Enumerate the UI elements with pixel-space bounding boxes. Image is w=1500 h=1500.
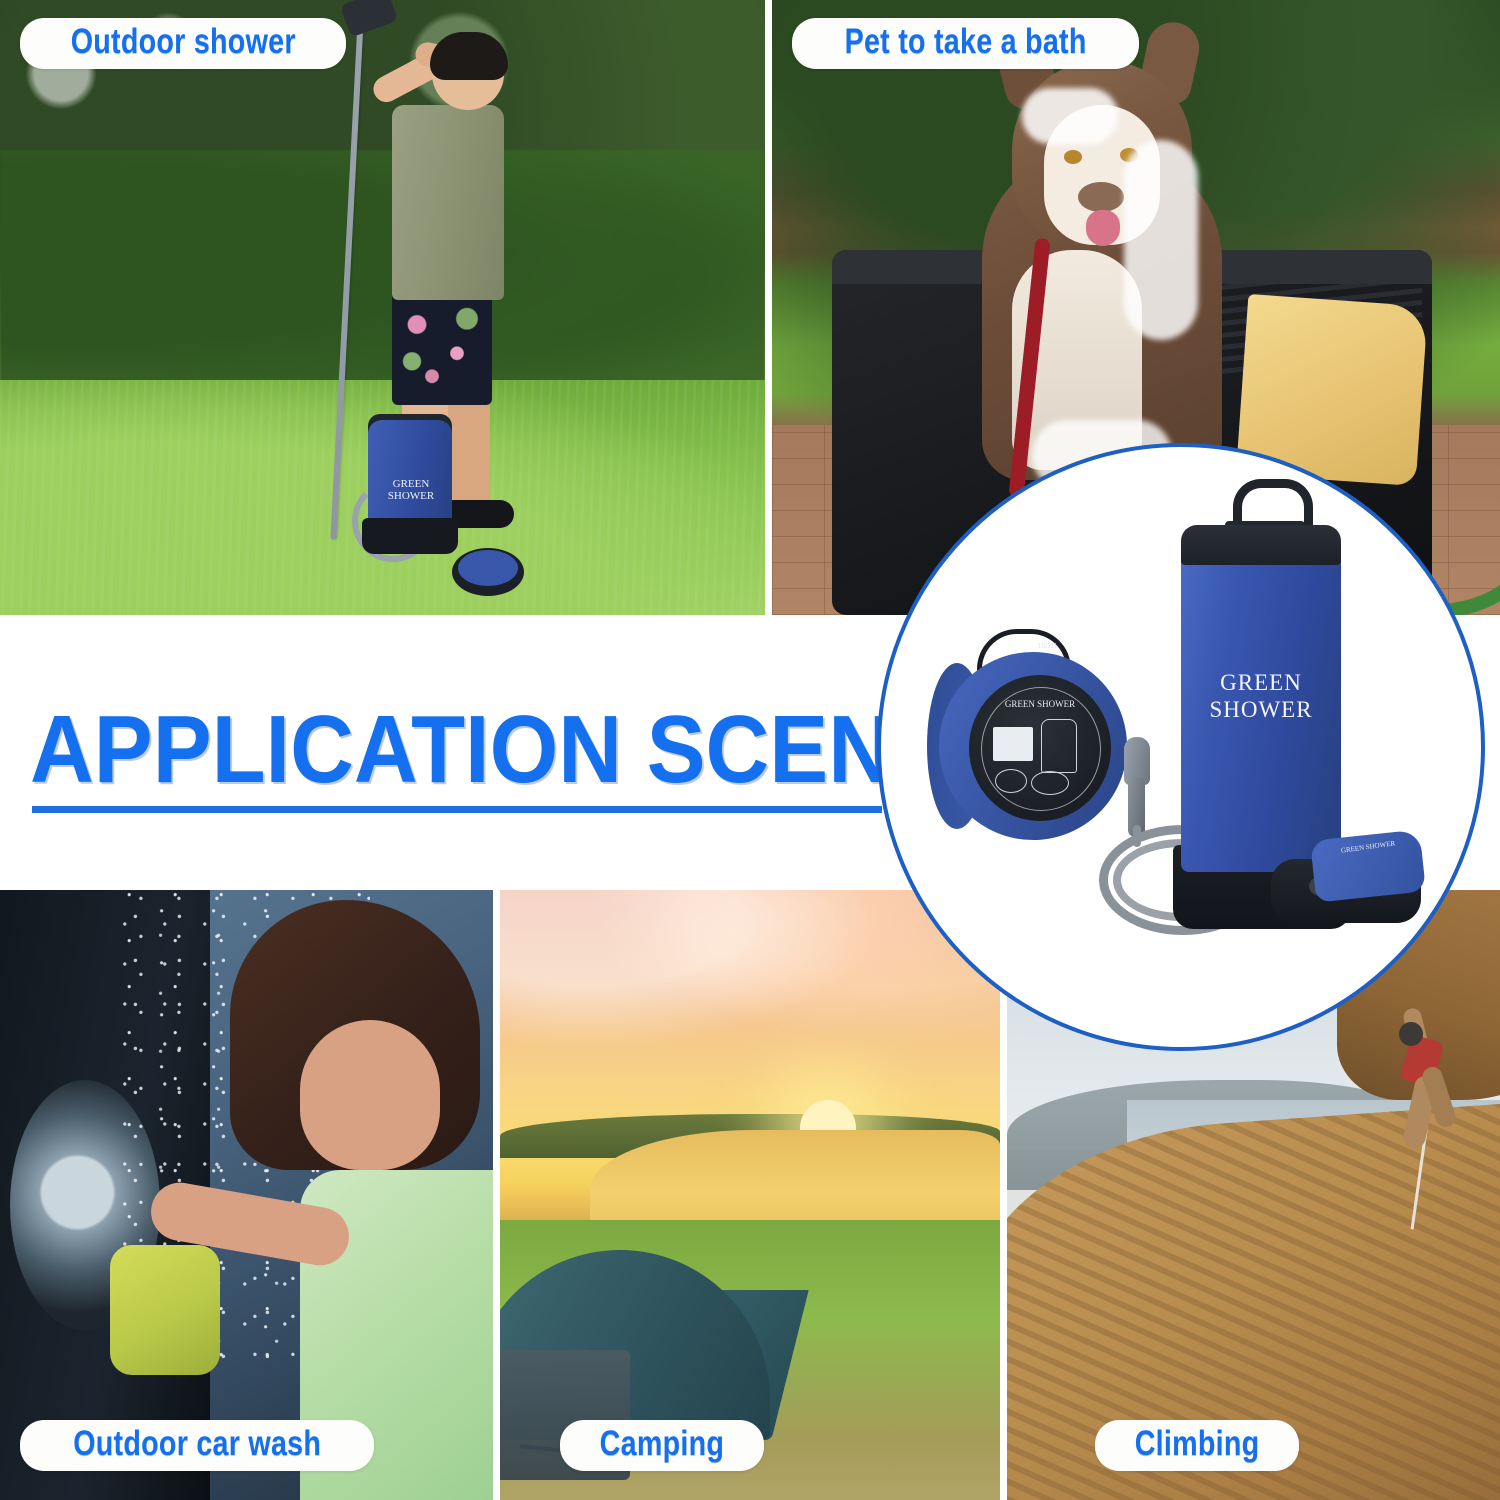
foot-pump-bladder [1310,829,1426,902]
case-artwork-hose-a [995,769,1027,793]
product-collage: GREEN SHOWER Outdoor shower Pet to take … [0,0,1500,1500]
dog-eye-left [1064,150,1082,164]
bag-brand-line-1: GREEN [1187,669,1335,696]
floral-shorts [392,290,492,405]
shower-bag-brand: GREEN SHOWER [372,478,450,502]
girl-face [300,1020,440,1170]
label-climbing-text: Climbing [1135,1426,1260,1461]
soap-suds-side [1124,140,1198,340]
bag-brand-line-2: SHOWER [1187,696,1335,723]
case-brand-text: GREEN SHOWER [985,699,1095,709]
label-outdoor-shower-text: Outdoor shower [71,24,296,59]
panel-camping: Camping [500,890,1000,1500]
dog-tongue [1086,210,1120,246]
label-outdoor-shower: Outdoor shower [20,18,346,69]
bag-brand-text: GREEN SHOWER [1187,669,1335,723]
case-artwork-bag [1041,719,1077,773]
dog-snout [1078,182,1124,212]
label-pet-bath: Pet to take a bath [792,18,1139,69]
title-underline [32,806,882,813]
product-inset-circle: 10/11L GREEN SHOWER GREEN SHOWER GREEN S… [877,443,1485,1051]
foot-pump-bladder [458,550,518,586]
panel-outdoor-shower: GREEN SHOWER Outdoor shower [0,0,765,615]
wash-sponge [110,1245,220,1375]
sunset-clouds [500,890,1000,1100]
shower-bag-base [362,518,458,554]
label-camping: Camping [560,1420,764,1471]
label-pet-bath-text: Pet to take a bath [845,24,1087,59]
label-camping-text: Camping [600,1426,724,1461]
label-car-wash-text: Outdoor car wash [73,1426,321,1461]
olive-tshirt [392,105,504,300]
person-hair [430,32,508,80]
label-car-wash: Outdoor car wash [20,1420,374,1471]
case-artwork-photo [993,727,1033,761]
panel-car-wash: Outdoor car wash [0,890,493,1500]
soap-suds-head [1022,88,1118,144]
case-capacity-text: 10/11L [1017,643,1079,650]
label-climbing: Climbing [1095,1420,1299,1471]
hedge-row [0,150,765,410]
case-artwork-hose-b [1031,771,1069,795]
climber-head [1399,1022,1423,1046]
bag-top-collar [1181,525,1341,565]
